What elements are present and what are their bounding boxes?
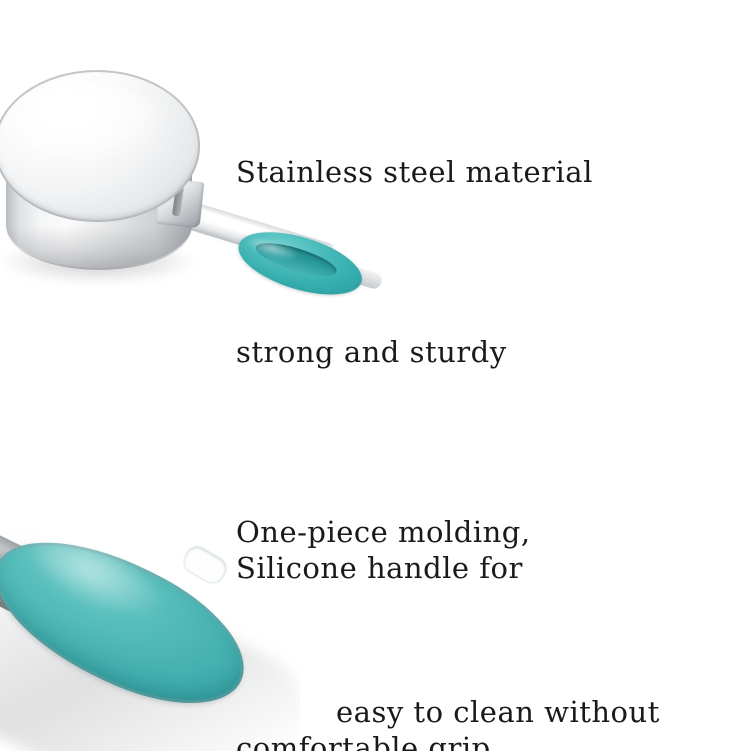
cup-top-sheen — [14, 84, 164, 162]
handle-hanging-hole — [180, 543, 229, 587]
feature-line: Stainless steel material — [236, 142, 660, 202]
feature-line: strong and sturdy — [236, 322, 660, 382]
feature-text-silicone-handle: Silicone handle for comfortable grip Non… — [236, 418, 638, 751]
feature-line: Silicone handle for — [236, 538, 638, 598]
product-infographic-page: p 125mL Stainless steel material strong … — [0, 0, 750, 751]
feature-line: comfortable grip — [236, 718, 638, 751]
